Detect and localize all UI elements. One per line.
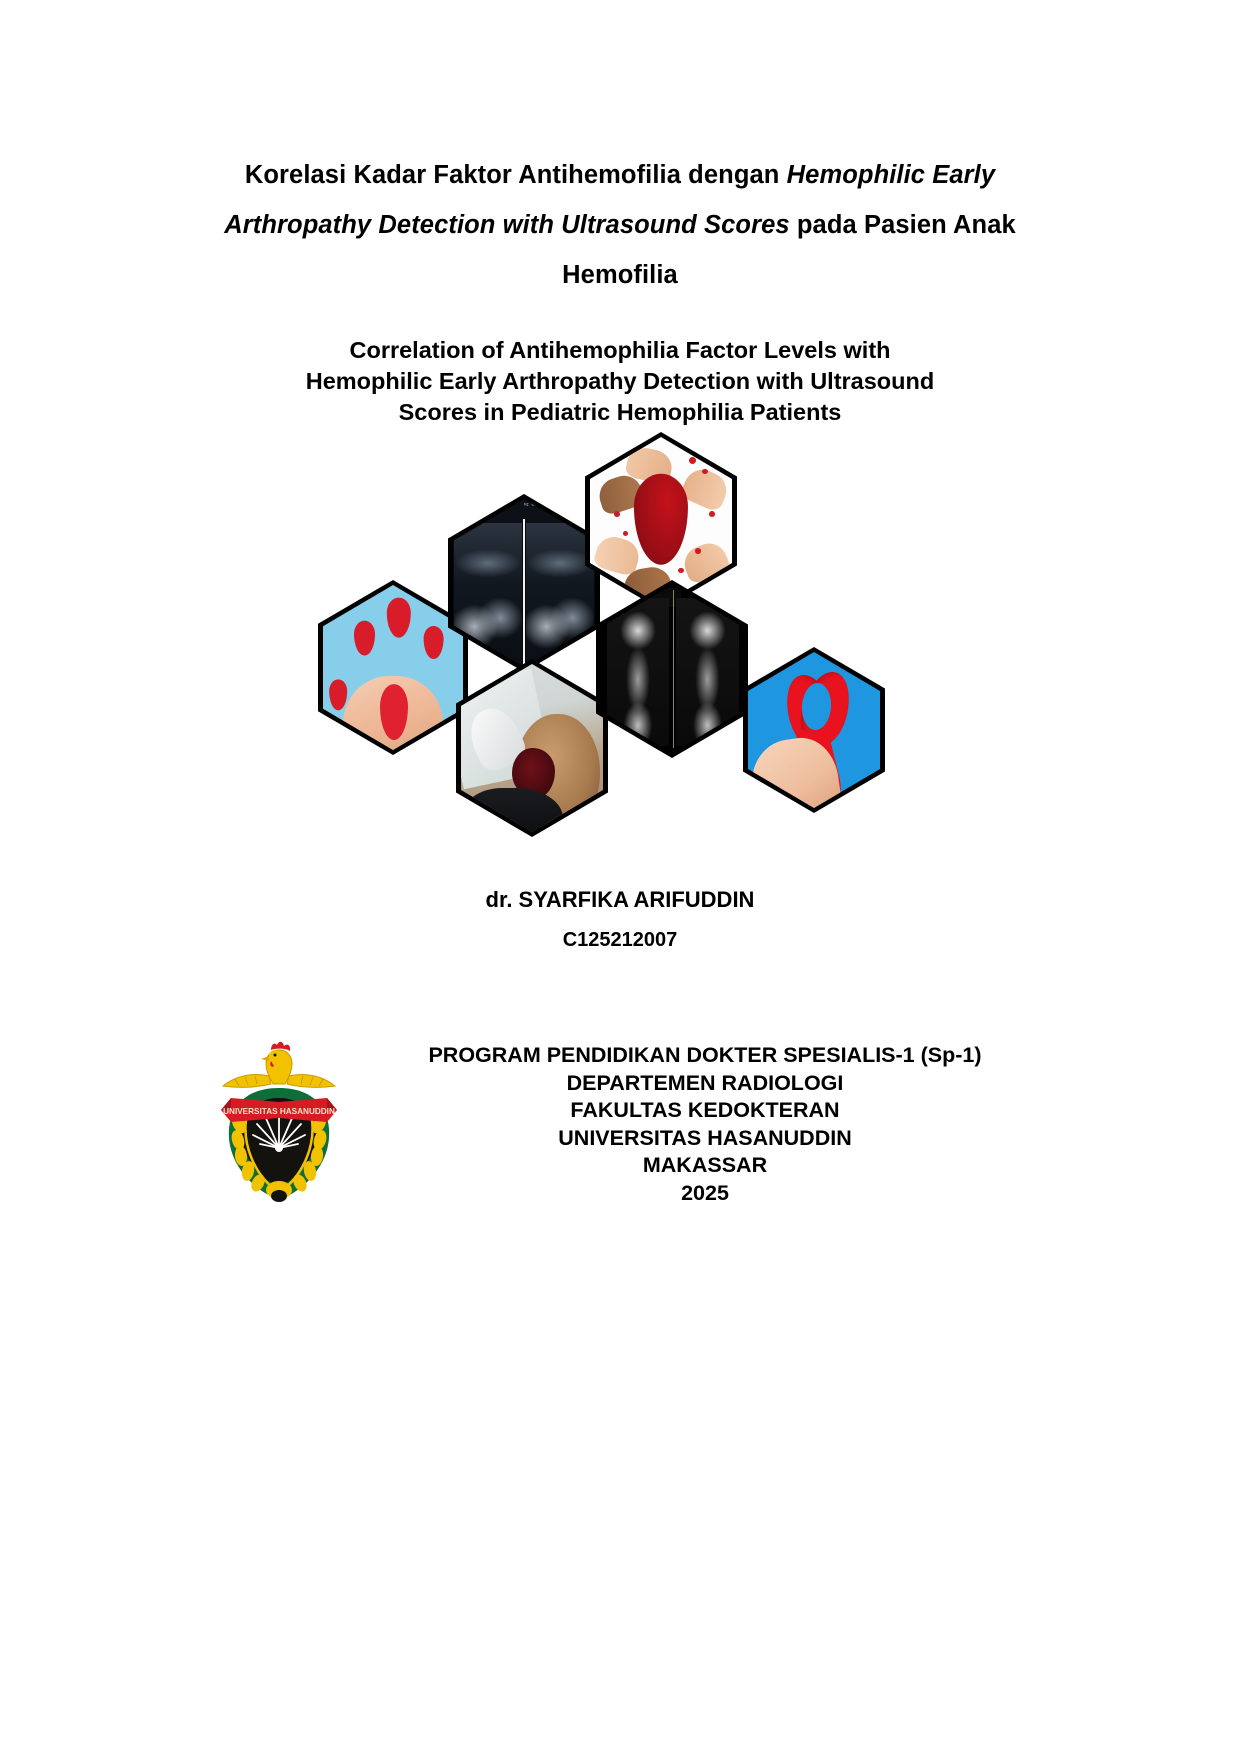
title-id-line1-plain: Korelasi Kadar Faktor Antihemofilia deng… <box>245 161 787 189</box>
ultrasound-panel-divider <box>523 519 526 667</box>
institution-line-year: 2025 <box>325 1180 1085 1208</box>
ultrasound-header-left-text: JAN RS ST GC Index <box>462 504 507 508</box>
xray-measurement-rule <box>673 590 674 748</box>
crest-banner-text: UNIVERSITAS HASANUDDIN <box>223 1107 335 1116</box>
ultrasound-header-right-text: MI 0.9 2023/05 07 S+0.1 <box>524 504 582 508</box>
thesis-cover-page: Korelasi Kadar Faktor Antihemofilia deng… <box>0 0 1241 1755</box>
title-en-line2: Hemophilic Early Arthropathy Detection w… <box>180 366 1060 397</box>
title-indonesian: Korelasi Kadar Faktor Antihemofilia deng… <box>180 150 1060 300</box>
title-id-line2-plain: pada <box>790 211 857 239</box>
xray-view-ap <box>676 598 738 746</box>
institution-line-city: MAKASSAR <box>325 1152 1085 1180</box>
title-en-line3: Scores in Pediatric Hemophilia Patients <box>180 397 1060 428</box>
institution-line-department: DEPARTEMEN RADIOLOGI <box>325 1070 1085 1098</box>
author-name: dr. SYARFIKA ARIFUDDIN <box>180 887 1060 913</box>
title-en-line1: Correlation of Antihemophilia Factor Lev… <box>180 335 1060 366</box>
blood-speck-icon <box>678 568 684 573</box>
institution-line-university: UNIVERSITAS HASANUDDIN <box>325 1125 1085 1153</box>
institution-line-faculty: FAKULTAS KEDOKTERAN <box>325 1097 1085 1125</box>
title-english: Correlation of Antihemophilia Factor Lev… <box>180 335 1060 428</box>
institution-block: PROGRAM PENDIDIKAN DOKTER SPESIALIS-1 (S… <box>325 1042 1085 1207</box>
hexagon-image-collage: JAN RS ST GC Index MI 0.9 2023/05 07 S+0… <box>296 432 916 822</box>
blood-speck-icon <box>614 511 620 517</box>
xray-header-line3: kV 120 mAs 8.0 <box>609 601 639 605</box>
blood-speck-icon <box>623 531 628 536</box>
author-student-id: C125212007 <box>180 929 1060 952</box>
hex-red-ribbon-photo <box>743 647 885 813</box>
ultrasound-panel-right <box>526 523 594 667</box>
xray-view-lateral <box>607 598 669 746</box>
footer-block: UNIVERSITAS HASANUDDIN <box>175 1032 1075 1232</box>
blood-speck-icon <box>709 511 715 517</box>
blood-drop-icon <box>329 679 347 710</box>
hex-hands-blood-drop-illustration <box>585 432 737 610</box>
title-id-line1-italic: Hemophilic <box>787 161 925 189</box>
institution-line-program: PROGRAM PENDIDIKAN DOKTER SPESIALIS-1 (S… <box>325 1042 1085 1070</box>
hex-clinical-wound-photo <box>456 659 608 837</box>
blood-speck-icon <box>702 469 708 474</box>
hex-blood-drops-photo <box>318 580 468 755</box>
hex-knee-xray-photo: HASANUDDIN UNIV HOSP GENU AP / LATERAL k… <box>596 580 748 758</box>
hex-ultrasound-scan-photo: JAN RS ST GC Index MI 0.9 2023/05 07 S+0… <box>448 494 600 672</box>
